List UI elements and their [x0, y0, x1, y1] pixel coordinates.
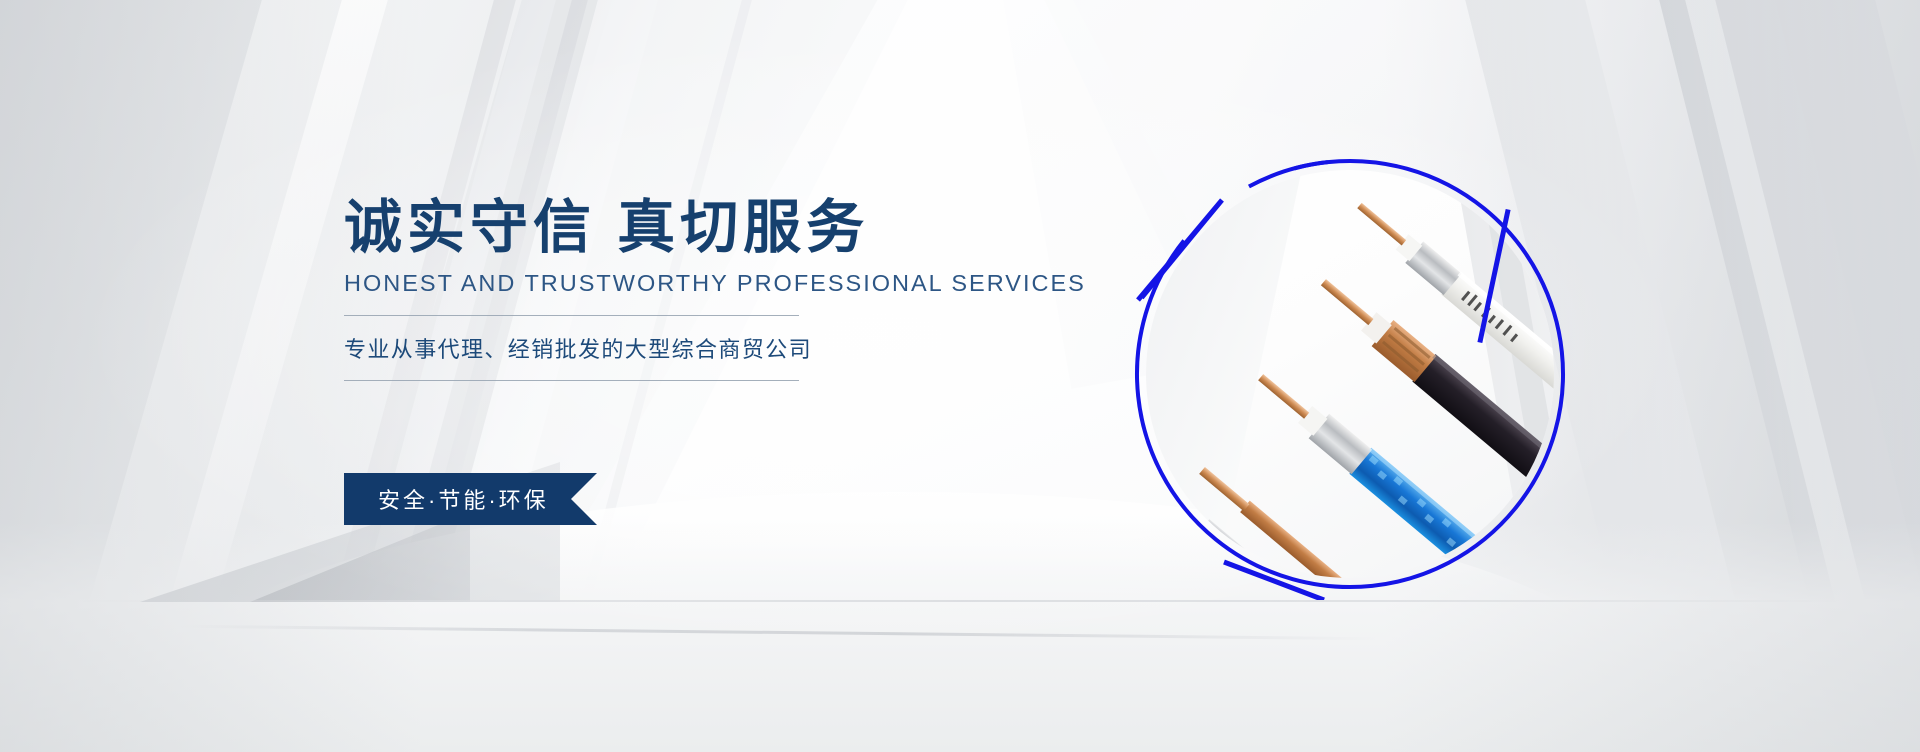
ribbon-arrow-notch — [571, 473, 597, 525]
background-floor — [0, 522, 1920, 752]
banner-ribbon-tag[interactable]: 安全·节能·环保 — [344, 473, 597, 525]
ribbon-label: 安全·节能·环保 — [378, 483, 549, 515]
product-media — [1124, 148, 1576, 600]
banner-headline: 诚实守信 真切服务 — [344, 196, 964, 260]
ring-main-arc — [1124, 148, 1576, 600]
background-floor-shadow-2 — [250, 512, 470, 602]
banner-description: 专业从事代理、经销批发的大型综合商贸公司 — [344, 332, 964, 364]
banner-copy: 诚实守信 真切服务 HONEST AND TRUSTWORTHY PROFESS… — [344, 196, 964, 381]
background-diagonal-right-3 — [1645, 0, 1920, 752]
promo-banner: 诚实守信 真切服务 HONEST AND TRUSTWORTHY PROFESS… — [0, 0, 1920, 752]
ring-line-topleft — [1142, 203, 1220, 298]
banner-divider-bottom — [344, 380, 799, 381]
banner-divider-top — [344, 315, 799, 316]
ring-accent-tick — [1124, 148, 1576, 600]
background-floor-edge — [180, 625, 1380, 641]
banner-subheadline: HONEST AND TRUSTWORTHY PROFESSIONAL SERV… — [344, 270, 964, 297]
background-diagonal-right-4 — [1675, 0, 1920, 752]
ring-decoration — [1124, 148, 1576, 600]
background-floor-line — [80, 600, 1840, 602]
background-diagonal-right-2 — [1619, 0, 1894, 752]
ribbon-body: 安全·节能·环保 — [344, 473, 571, 525]
